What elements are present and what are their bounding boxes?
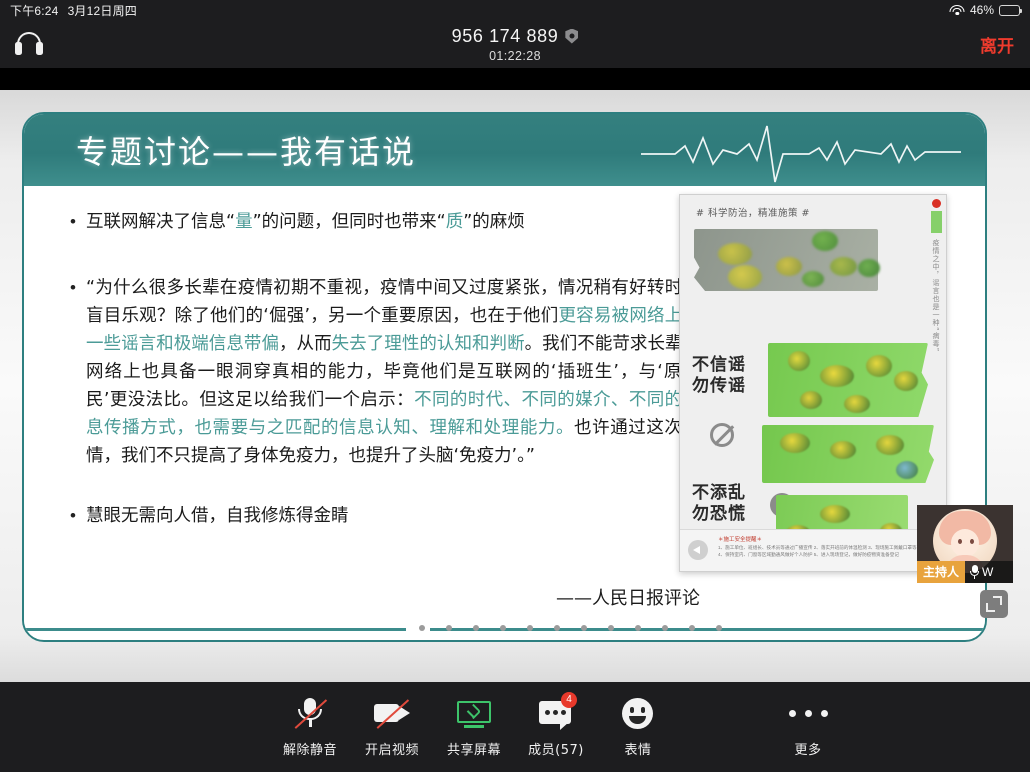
text-segment: ”的麻烦 — [463, 212, 525, 232]
poster-message-1: 不信谣 勿传谣 — [692, 355, 746, 397]
list-item: • “为什么很多长辈在疫情初期不重视，疫情中间又过度紧张，情况稍有好转时又盲目乐… — [60, 274, 700, 470]
text-segment-highlight: 质 — [446, 212, 464, 232]
poster-message-2: 不添乱 勿恐慌 — [692, 483, 746, 525]
more-dots-icon — [786, 696, 830, 730]
alert-dot-icon — [932, 199, 941, 208]
status-badge: 主持人 — [917, 561, 965, 583]
headphone-icon[interactable] — [14, 31, 44, 57]
bullet-text-3: 慧眼无需向人借，自我修炼得金睛 — [86, 502, 700, 530]
leave-button[interactable]: 离开 — [980, 20, 1014, 68]
slide-bullet-list: • 互联网解决了信息“量”的问题，但同时也带来“质”的麻烦 • “为什么很多长辈… — [60, 208, 700, 532]
share-screen-icon — [452, 696, 496, 730]
camera-off-icon — [370, 696, 414, 730]
toolbar-item-label: 开启视频 — [365, 739, 419, 758]
text-segment: 互联网解决了信息“ — [86, 212, 235, 232]
virus-blob — [830, 441, 856, 459]
virus-blob — [858, 259, 880, 277]
virus-blob — [876, 435, 904, 455]
wifi-icon — [950, 5, 965, 16]
meeting-toolbar: 解除静音 开启视频 共享屏幕 4 成员(57) — [0, 682, 1030, 772]
virus-blob — [896, 461, 918, 479]
virus-blob — [820, 505, 850, 523]
list-item: • 慧眼无需向人借，自我修炼得金睛 — [60, 502, 700, 530]
virus-blob — [844, 395, 870, 413]
participant-name-row: W — [965, 561, 1013, 583]
poster-side-column: 疫情之中，谣言也是一种“病毒” — [928, 199, 944, 379]
toolbar-item-label: 共享屏幕 — [447, 739, 501, 758]
bullet-text-2: “为什么很多长辈在疫情初期不重视，疫情中间又过度紧张，情况稍有好转时又盲目乐观？… — [86, 274, 700, 470]
virus-blob — [776, 257, 802, 276]
participant-video-thumbnail[interactable]: 主持人 W — [917, 505, 1013, 583]
shared-screen-stage[interactable]: 专题讨论——我有话说 • 互联网解决了信息“量”的问题，但同时也带来“质”的麻烦… — [0, 90, 1030, 682]
status-bar-left: 下午6:24 3月12日周四 — [10, 2, 137, 19]
virus-blob — [866, 355, 892, 377]
virus-blob — [820, 365, 854, 387]
poster-infographic: # 科学防治，精准施策 # 疫情之中，谣言也是一种“病毒” — [679, 194, 947, 572]
heartbeat-line-icon — [641, 120, 961, 186]
notification-badge: 4 — [561, 692, 577, 708]
slide-header: 专题讨论——我有话说 — [24, 114, 985, 186]
toolbar-item-label: 更多 — [794, 739, 821, 758]
participants-icon: 4 — [534, 696, 578, 730]
speaker-icon — [688, 540, 708, 560]
poster-footer-lines: 1、施工单位、班组长、技术员等通过广播宣传 2、落实开班前的体温检测 3、现场施… — [718, 544, 940, 558]
slide-title: 专题讨论——我有话说 — [76, 127, 416, 173]
emoji-icon — [616, 696, 660, 730]
text-segment: ”的问题，但同时也带来“ — [253, 212, 446, 232]
toolbar-item-label: 解除静音 — [283, 739, 337, 758]
poster-footer-title: ＊施工安全提醒＊ — [718, 535, 762, 543]
bullet-marker: • — [60, 208, 86, 236]
list-item: • 互联网解决了信息“量”的问题，但同时也带来“质”的麻烦 — [60, 208, 700, 236]
poster-footer: ＊施工安全提醒＊ 1、施工单位、班组长、技术员等通过广播宣传 2、落实开班前的体… — [680, 529, 946, 571]
toolbar-item-emoji[interactable]: 表情 — [583, 696, 693, 758]
toolbar-item-more[interactable]: 更多 — [753, 696, 863, 758]
slide-divider-dots — [419, 625, 722, 631]
virus-blob — [812, 231, 838, 251]
slide-body: • 互联网解决了信息“量”的问题，但同时也带来“质”的麻烦 • “为什么很多长辈… — [24, 186, 985, 638]
resize-handle-icon[interactable] — [980, 590, 1008, 618]
virus-blob — [728, 265, 762, 289]
bullet-text-1: 互联网解决了信息“量”的问题，但同时也带来“质”的麻烦 — [86, 208, 700, 236]
participant-label-bar: 主持人 W — [917, 561, 1013, 583]
virus-blob — [800, 391, 822, 409]
battery-icon — [999, 5, 1020, 16]
participant-name: W — [982, 565, 993, 579]
status-bar-right: 46% — [950, 3, 1020, 17]
bullet-marker: • — [60, 274, 86, 470]
slide-attribution: ——人民日报评论 — [556, 584, 700, 610]
status-time: 下午6:24 — [10, 2, 59, 19]
presentation-slide: 专题讨论——我有话说 • 互联网解决了信息“量”的问题，但同时也带来“质”的麻烦… — [22, 112, 987, 642]
toolbar-item-label: 表情 — [624, 739, 651, 758]
slide-divider-rule — [24, 626, 985, 632]
virus-blob — [718, 243, 752, 265]
mic-muted-icon — [288, 696, 332, 730]
virus-blob — [830, 257, 857, 276]
status-date: 3月12日周四 — [68, 2, 137, 19]
prohibition-icon — [710, 423, 734, 447]
virus-blob — [894, 371, 918, 391]
text-segment-highlight: 失去了理性的认知和判断 — [332, 334, 525, 354]
virus-blob — [788, 351, 810, 371]
text-segment: ，从而 — [279, 334, 332, 354]
zoom-meeting-screen: 下午6:24 3月12日周四 46% 956 174 889 01:22:28 … — [0, 0, 1030, 772]
mic-muted-icon — [970, 565, 979, 579]
virus-blob — [780, 433, 810, 453]
status-bar: 下午6:24 3月12日周四 46% — [0, 0, 1030, 20]
poster-hashtag: # 科学防治，精准施策 # — [696, 205, 810, 219]
poster-side-text: 疫情之中，谣言也是一种“病毒” — [931, 239, 941, 352]
letterbox-top — [0, 68, 1030, 90]
virus-blob — [802, 271, 824, 287]
toolbar-item-label: 成员(57) — [528, 739, 584, 758]
bullet-marker: • — [60, 502, 86, 530]
text-segment-highlight: 量 — [235, 212, 253, 232]
meeting-top-bar — [0, 20, 1030, 68]
green-bar-icon — [931, 211, 942, 233]
battery-percent-label: 46% — [970, 3, 994, 17]
